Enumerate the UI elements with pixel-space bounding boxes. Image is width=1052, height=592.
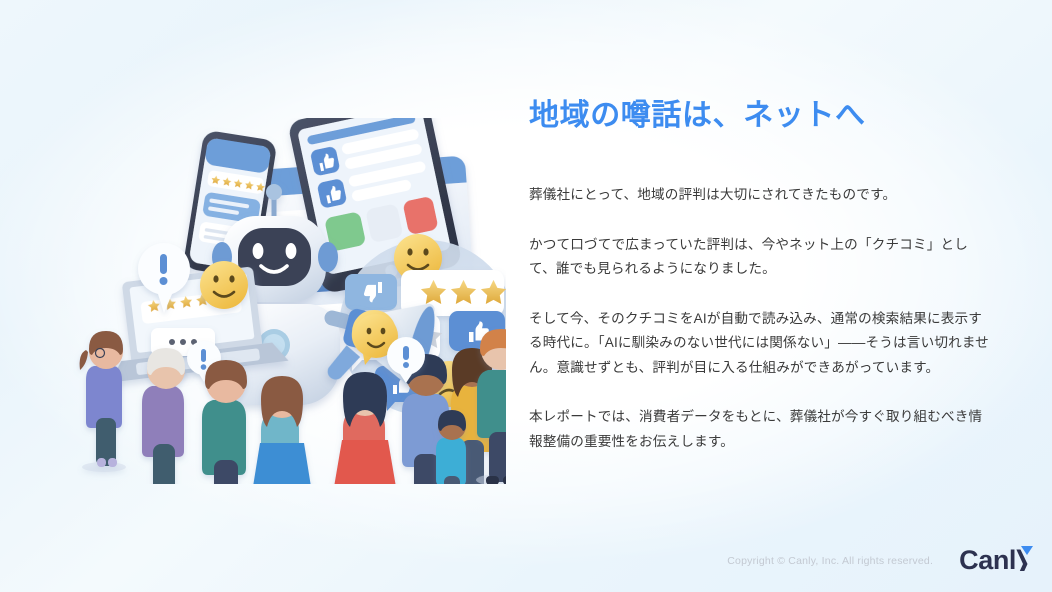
slide-footer: Copyright © Canly, Inc. All rights reser… (727, 545, 1034, 576)
person-figure (80, 331, 126, 472)
page-title: 地域の噂話は、ネットへ (529, 96, 991, 135)
paragraph-4: 本レポートでは、消費者データをもとに、葬儀社が今すぐ取り組むべき情報整備の重要性… (529, 405, 991, 454)
smiley-emoji (200, 261, 248, 309)
logo-wordmark: Canl (959, 545, 1016, 576)
hero-illustration (42, 118, 506, 484)
person-figure (199, 360, 253, 484)
paragraph-3: そして今、そのクチコミをAIが自動で読み込み、通常の検索結果に表示する時代に。「… (529, 307, 991, 381)
paragraph-2: かつて口づてで広まっていた評判は、今やネット上の「クチコミ」として、誰でも見られ… (529, 233, 991, 282)
paragraph-1: 葬儀社にとって、地域の評判は大切にされてきたものです。 (529, 183, 991, 208)
slide-canvas: 地域の噂話は、ネットへ 葬儀社にとって、地域の評判は大切にされてきたものです。 … (0, 0, 1052, 592)
body-copy: 葬儀社にとって、地域の評判は大切にされてきたものです。 かつて口づてで広まってい… (529, 183, 991, 454)
person-figure (433, 410, 469, 484)
content-column: 地域の噂話は、ネットへ 葬儀社にとって、地域の評判は大切にされてきたものです。 … (529, 96, 991, 454)
exclamation-bubble (393, 294, 431, 332)
copyright-text: Copyright © Canly, Inc. All rights reser… (727, 555, 933, 567)
canly-logo: Canl (959, 545, 1034, 576)
